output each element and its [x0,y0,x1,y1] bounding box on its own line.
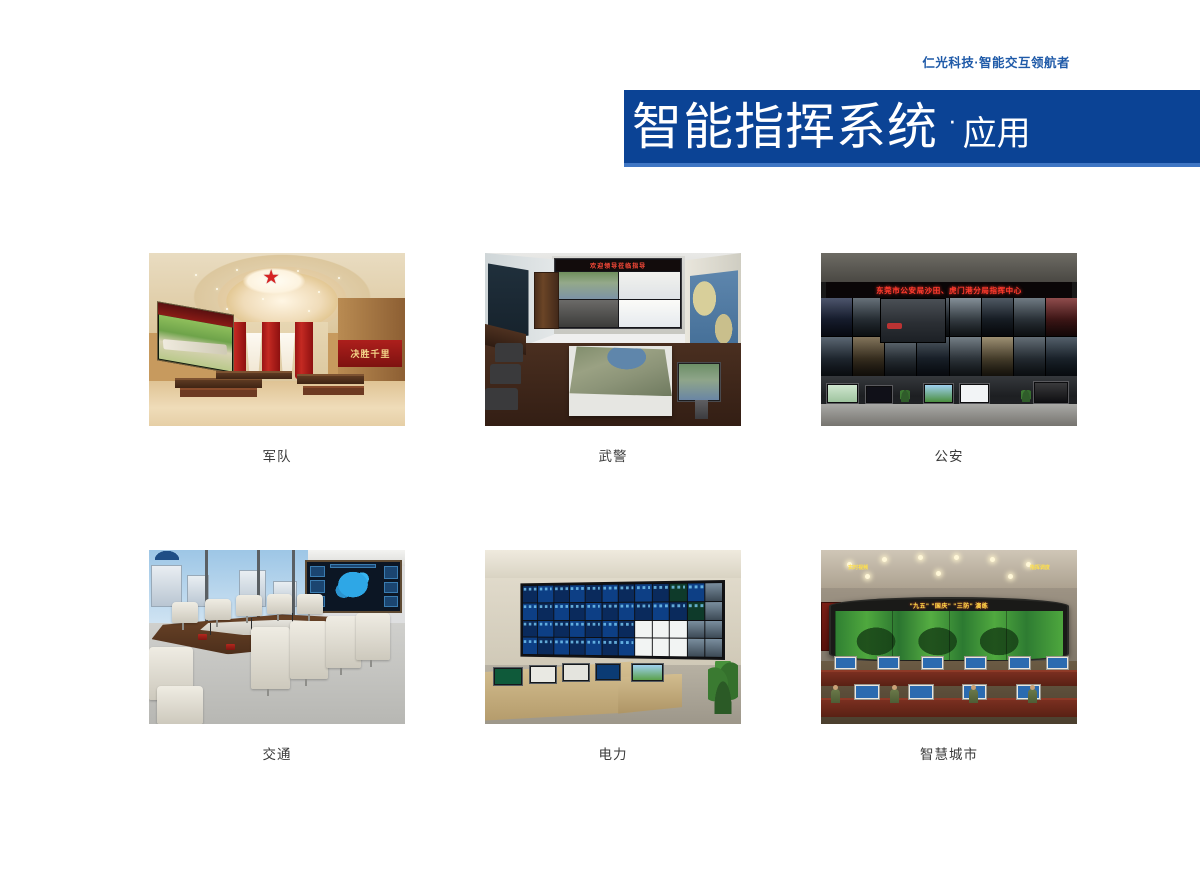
gallery-row-2: 交通 [149,550,1099,763]
caption-armed-police: 武警 [485,445,741,465]
camera-tile [821,298,852,336]
gallery-card-armed-police[interactable]: 欢迎领导莅临指导 [485,253,741,465]
caption-power: 电力 [485,743,741,763]
scada-tile [653,602,669,619]
city-model [569,346,671,396]
operator [890,689,899,703]
camera-tile [821,337,852,375]
monitor [959,383,990,404]
plant [1021,388,1031,402]
thumbnail-armed-police[interactable]: 欢迎领导莅临指导 [485,253,741,426]
wall-cell [619,272,681,299]
ceiling [821,253,1077,282]
gallery-grid: 决胜千里 军队 [149,253,1099,763]
mosaic-video-wall [521,580,726,660]
scada-tile [636,584,652,601]
ceiling [485,550,741,578]
led-banner: 东莞市公安局沙田、虎门港分局指挥中心 [826,282,1072,298]
camera-tile [950,337,981,375]
conference-unit [198,634,207,640]
thumbnail-power[interactable] [485,550,741,724]
thumbnail-military[interactable]: 决胜千里 [149,253,405,426]
monitor [923,383,954,404]
scada-tile [619,638,635,655]
scada-tile [619,620,635,637]
scada-tile [706,583,723,601]
downlight [990,557,995,562]
china-map [330,568,377,604]
conference-unit [226,644,235,650]
monitor [865,385,893,404]
scada-tile [688,639,705,657]
ceiling-light [236,269,238,271]
gallery-row-1: 决胜千里 军队 [149,253,1099,465]
scada-tile [523,603,538,619]
seating-row [303,386,364,395]
console-monitor [493,667,524,686]
scada-tile [554,585,569,602]
microphone [210,623,211,635]
screen-road [163,340,228,355]
dashboard-panel [310,566,325,577]
workstation [921,656,944,670]
ceiling-light [195,274,197,276]
led-left-label: 实时视频 [844,557,872,578]
led-screen [157,302,234,374]
scada-tile [636,602,652,619]
plant [708,661,739,713]
workstation [854,684,880,700]
camera-tile [885,337,916,375]
scada-tile [523,620,538,636]
workstation [964,656,987,670]
video-wall [821,298,1077,376]
camera-tile [853,337,884,375]
console-row [821,698,1077,717]
scene-armed-police: 欢迎领导莅临指导 [485,253,741,426]
caption-public-security: 公安 [821,445,1077,465]
led-right-label: 指挥调度 [1026,557,1054,578]
scada-tile [523,637,538,654]
camera-tile [982,298,1013,336]
video-wall: 欢迎领导莅临指导 [554,258,682,329]
scada-tile [539,620,554,637]
dome-building [155,551,179,560]
scada-tile [554,602,569,619]
monitor [826,383,859,404]
operator [1028,689,1037,703]
scada-tile [554,620,569,637]
dashboard-panel [384,596,398,607]
chair [356,613,389,660]
chair [267,594,293,615]
scada-tile [688,601,705,619]
chair [490,364,521,385]
building [151,565,183,607]
scada-tile [603,620,619,637]
gallery-card-power[interactable]: 电力 [485,550,741,763]
camera-tile [917,337,948,375]
scada-tile [653,620,669,637]
scene-power [485,550,741,724]
led-banner: 欢迎领导莅临指导 [556,260,680,271]
ceiling-light [262,298,264,300]
wall-cell [619,300,681,327]
console-monitor [631,663,664,682]
monitor [1033,381,1069,403]
dashboard-title-bar [330,564,377,567]
ceiling-light [216,288,218,290]
scada-tile [670,620,687,637]
chair [485,388,518,410]
caption-traffic: 交通 [149,743,405,763]
chair [172,602,198,623]
camera-tile [982,337,1013,375]
camera-tile [950,298,981,336]
scada-tile [554,637,569,654]
scada-tile [653,638,669,655]
scene-smart-city: 实时视频 指挥调度 "九五" "国庆" "三防" 演练 [821,550,1077,724]
thumbnail-public-security[interactable]: 东莞市公安局沙田、虎门港分局指挥中心 [821,253,1077,426]
scada-tile [619,602,635,619]
scada-tile [619,584,635,601]
scada-tile [688,620,705,638]
scene-traffic [149,550,405,724]
scada-tile [706,620,723,638]
curtain [295,322,313,379]
scene-military: 决胜千里 [149,253,405,426]
title-separator: · [938,105,963,136]
chair [495,343,523,362]
scada-tile [670,638,687,656]
workstation [1046,656,1069,670]
model-table [569,346,671,415]
scada-tile [603,602,619,619]
wall-cell [556,300,618,327]
title-banner: 智能指挥系统 · 应用 [624,90,1200,167]
seating-row [180,388,257,397]
camera-tile [1046,337,1077,375]
chair [236,595,262,616]
scada-tile [688,583,705,601]
scada-tile [586,620,601,637]
caption-military: 军队 [149,445,405,465]
ceiling-light [318,291,320,293]
scada-tile [539,585,554,602]
camera-tile-primary [880,298,947,343]
chair [157,686,203,724]
dashboard-panel [384,566,398,579]
ceiling-light [308,310,310,312]
workstation [1008,656,1031,670]
monitor [677,362,721,402]
camera-tile [1014,337,1045,375]
desk [216,371,293,380]
gallery-card-traffic[interactable]: 交通 [149,550,405,763]
workstation [908,684,934,700]
scada-tile [570,602,585,619]
scada-tile [603,638,619,655]
chair [297,594,323,615]
thumbnail-traffic[interactable] [149,550,405,724]
hall-banner: 决胜千里 [338,340,402,368]
led-banner: "九五" "国庆" "三防" 演练 [831,600,1068,610]
page-title: 智能指挥系统 [632,102,938,152]
operator [969,689,978,703]
scada-tile [603,584,619,601]
monitor-stand [695,400,708,419]
wall-cell [556,272,618,299]
scada-tile [539,637,554,654]
dashboard-panel [384,582,398,594]
scada-tile [653,583,669,600]
floor [821,404,1077,426]
operator [831,689,840,703]
scada-tile [636,638,652,655]
slide-root: 仁光科技·智能交互领航者 智能指挥系统 · 应用 [0,0,1200,872]
scada-tile [636,620,652,637]
workstation [877,656,900,670]
scada-tile [706,601,723,619]
camera-tile [1014,298,1045,336]
scada-tile [706,639,723,657]
console-monitor [529,665,557,684]
scada-tile [586,602,601,619]
dashboard-panel [310,580,325,593]
scada-tile [670,602,687,619]
desk [297,374,364,384]
console-monitor [595,663,621,680]
scada-tile [523,585,538,602]
door [534,272,560,329]
chair [205,599,231,620]
brand-text: 仁光科技·智能交互领航者 [922,52,1070,71]
gallery-card-military[interactable]: 决胜千里 军队 [149,253,405,465]
console-monitor [562,663,590,682]
scada-tile [586,638,601,655]
scada-tile [539,603,554,620]
scada-tile [670,583,687,601]
scene-public-security: 东莞市公安局沙田、虎门港分局指挥中心 [821,253,1077,426]
chair [290,621,328,678]
thumbnail-smart-city[interactable]: 实时视频 指挥调度 "九五" "国庆" "三防" 演练 [821,550,1077,724]
wall-content [835,611,1062,659]
scada-tile [586,584,601,601]
gallery-card-smart-city[interactable]: 实时视频 指挥调度 "九五" "国庆" "三防" 演练 [821,550,1077,763]
chair [251,627,289,690]
plant [900,388,910,402]
workstation [834,656,857,670]
scada-tile [570,620,585,637]
curved-video-wall: "九五" "国庆" "三防" 演练 [829,597,1070,663]
gallery-card-public-security[interactable]: 东莞市公安局沙田、虎门港分局指挥中心 [821,253,1077,465]
caption-smart-city: 智慧城市 [821,743,1077,763]
scada-tile [570,638,585,655]
scada-tile [570,585,585,602]
page-subtitle: 应用 [963,106,1031,155]
camera-tile [1046,298,1077,336]
